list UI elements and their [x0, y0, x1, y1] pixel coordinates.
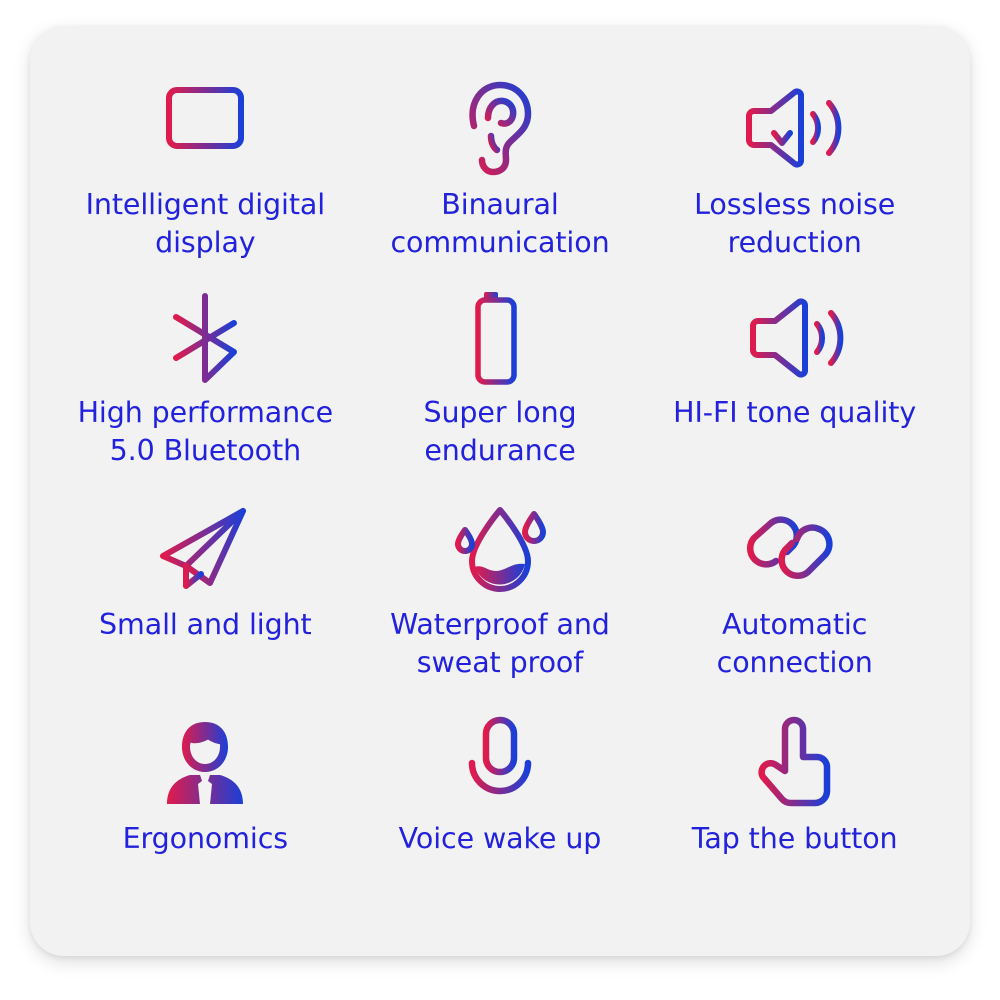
microphone-icon: [463, 710, 537, 816]
speaker-noise-reduction-icon: [741, 74, 849, 182]
monitor-chart-icon: [155, 74, 255, 182]
feature-label: Waterproof and sweat proof: [359, 606, 642, 681]
feature-item-ergonomics[interactable]: Ergonomics: [58, 710, 353, 922]
feature-label: Tap the button: [692, 820, 898, 858]
feature-label: Super long endurance: [359, 394, 642, 469]
chain-link-icon: [743, 498, 847, 602]
speaker-waves-icon: [745, 286, 845, 390]
feature-item-intelligent-digital-display[interactable]: Intelligent digital display: [58, 74, 353, 286]
battery-icon: [470, 286, 530, 390]
feature-label: Lossless noise reduction: [653, 186, 936, 261]
feature-card: Intelligent digital display Binaural com…: [30, 26, 970, 956]
paper-plane-icon: [155, 498, 255, 602]
feature-grid: Intelligent digital display Binaural com…: [58, 74, 942, 922]
feature-item-high-performance-bluetooth[interactable]: High performance 5.0 Bluetooth: [58, 286, 353, 498]
person-suit-icon: [161, 710, 249, 816]
feature-label: High performance 5.0 Bluetooth: [64, 394, 347, 469]
feature-label: Intelligent digital display: [64, 186, 347, 261]
feature-label: Voice wake up: [399, 820, 602, 858]
feature-item-voice-wake-up[interactable]: Voice wake up: [353, 710, 648, 922]
tap-hand-icon: [753, 710, 837, 816]
feature-label: Ergonomics: [123, 820, 288, 858]
bluetooth-icon: [158, 286, 252, 390]
feature-label: HI-FI tone quality: [673, 394, 916, 432]
feature-list-page: Intelligent digital display Binaural com…: [0, 0, 1000, 1000]
feature-item-super-long-endurance[interactable]: Super long endurance: [353, 286, 648, 498]
feature-item-hifi-tone-quality[interactable]: HI-FI tone quality: [647, 286, 942, 498]
feature-label: Automatic connection: [653, 606, 936, 681]
feature-label: Small and light: [99, 606, 312, 644]
feature-item-small-and-light[interactable]: Small and light: [58, 498, 353, 710]
feature-item-lossless-noise-reduction[interactable]: Lossless noise reduction: [647, 74, 942, 286]
feature-item-waterproof-sweat-proof[interactable]: Waterproof and sweat proof: [353, 498, 648, 710]
feature-label: Binaural communication: [359, 186, 642, 261]
water-drop-icon: [454, 498, 546, 602]
feature-item-automatic-connection[interactable]: Automatic connection: [647, 498, 942, 710]
ear-icon: [460, 74, 540, 182]
feature-item-tap-the-button[interactable]: Tap the button: [647, 710, 942, 922]
feature-item-binaural-communication[interactable]: Binaural communication: [353, 74, 648, 286]
